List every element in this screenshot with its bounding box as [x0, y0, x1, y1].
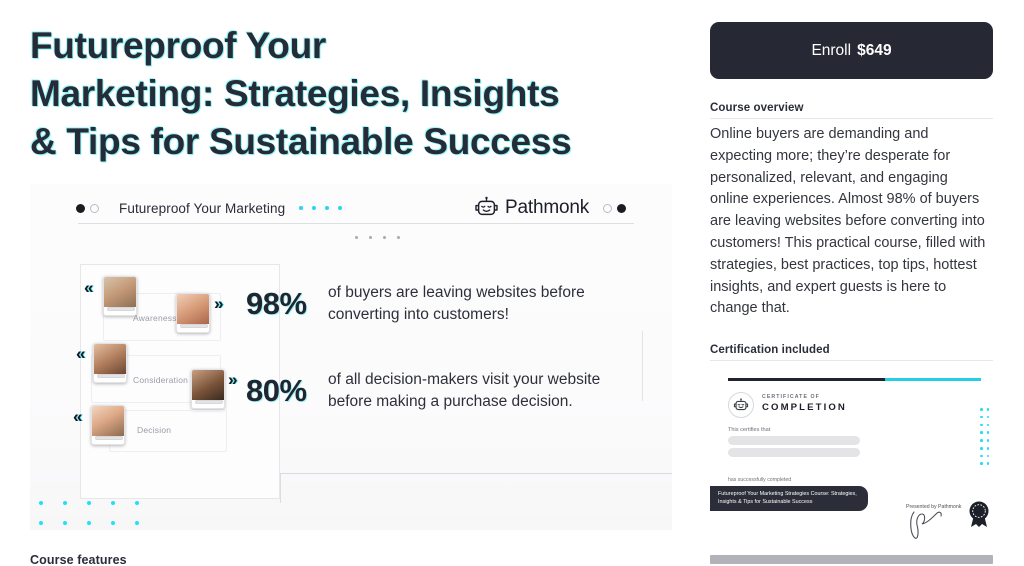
- course-features-heading: Course features: [30, 553, 127, 566]
- signature-icon: [908, 508, 954, 542]
- decorative-dot-grid-bottom: [39, 501, 139, 541]
- dot-filled-icon: [76, 204, 85, 213]
- stat-description: of all decision-makers visit your websit…: [328, 369, 636, 413]
- slide-header-left-dots: [76, 204, 99, 213]
- certificate-title: COMPLETION: [762, 402, 847, 413]
- certificate-course-name: Futureproof Your Marketing Strategies Co…: [710, 486, 868, 511]
- funnel-next-chevron[interactable]: »: [214, 295, 220, 312]
- certificate-completed-text: has successfully completed: [728, 477, 791, 483]
- funnel-avatar-card: [91, 405, 125, 445]
- funnel-avatar-card: [176, 293, 210, 333]
- dot-filled-icon: [617, 204, 626, 213]
- funnel-stage-label-consideration: Consideration: [133, 375, 188, 385]
- slide-title: Futureproof Your Marketing: [119, 201, 285, 216]
- page-title: Futureproof Your Marketing: Strategies, …: [30, 22, 670, 166]
- certification-heading: Certification included: [710, 344, 993, 361]
- title-line-3: & Tips for Sustainable Success: [30, 118, 670, 166]
- award-seal-icon: [968, 500, 990, 528]
- course-page: Futureproof Your Marketing: Strategies, …: [0, 0, 1024, 566]
- dot-outline-icon: [603, 204, 612, 213]
- certificate-kicker: CERTIFICATE OF: [762, 394, 820, 400]
- slide-header: Futureproof Your Marketing: [30, 192, 672, 224]
- course-overview-heading: Course overview: [710, 102, 993, 119]
- certificate-certifies-text: This certifies that: [728, 427, 770, 433]
- slide-bottom-tick: [280, 473, 281, 503]
- stat-item: 98% of buyers are leaving websites befor…: [246, 282, 636, 326]
- funnel-avatar-card: [103, 276, 137, 316]
- stat-item: 80% of all decision-makers visit your we…: [246, 369, 636, 413]
- robot-icon: [474, 196, 499, 220]
- course-sidebar: Enroll $649 Course overview Online buyer…: [710, 0, 1024, 566]
- slide-bottom-divider: [280, 473, 672, 474]
- funnel-prev-chevron[interactable]: «: [76, 345, 82, 362]
- funnel-stage-label-awareness: Awareness: [133, 313, 177, 323]
- brand-name: Pathmonk: [505, 197, 589, 219]
- course-main-column: Futureproof Your Marketing: Strategies, …: [0, 0, 700, 566]
- slide-header-right-dots: [603, 204, 626, 213]
- enroll-button[interactable]: Enroll $649: [710, 22, 993, 79]
- stat-description: of buyers are leaving websites before co…: [328, 282, 636, 326]
- funnel-prev-chevron[interactable]: «: [73, 408, 79, 425]
- certificate-preview[interactable]: CERTIFICATE OF COMPLETION This certifies…: [710, 366, 993, 566]
- enroll-price: $649: [857, 42, 891, 60]
- stat-value: 98%: [246, 286, 328, 322]
- slide-right-tick: [642, 331, 643, 401]
- certificate-name-placeholder: [728, 448, 860, 457]
- dot-outline-icon: [90, 204, 99, 213]
- certificate-name-placeholder: [728, 436, 860, 445]
- funnel-prev-chevron[interactable]: «: [84, 279, 90, 296]
- slide-progress-dots: [299, 206, 342, 210]
- funnel-avatar-card: [93, 343, 127, 383]
- certificate-top-bar: [728, 378, 981, 381]
- course-preview-slide[interactable]: Futureproof Your Marketing: [30, 184, 672, 530]
- slide-header-divider: [78, 223, 634, 224]
- funnel-stage-label-decision: Decision: [137, 425, 171, 435]
- slide-mid-dots: [355, 236, 400, 239]
- enroll-label: Enroll: [811, 42, 851, 60]
- funnel-next-chevron[interactable]: »: [228, 371, 234, 388]
- stat-value: 80%: [246, 373, 328, 409]
- robot-icon: [728, 392, 754, 418]
- title-line-1: Futureproof Your: [30, 22, 670, 70]
- brand-lockup: Pathmonk: [474, 196, 626, 220]
- certificate-decorative-dots: [980, 408, 989, 470]
- funnel-avatar-card: [191, 369, 225, 409]
- title-line-2: Marketing: Strategies, Insights: [30, 70, 670, 118]
- certificate-scrollbar[interactable]: [710, 555, 993, 564]
- course-overview-text: Online buyers are demanding and expectin…: [710, 124, 990, 320]
